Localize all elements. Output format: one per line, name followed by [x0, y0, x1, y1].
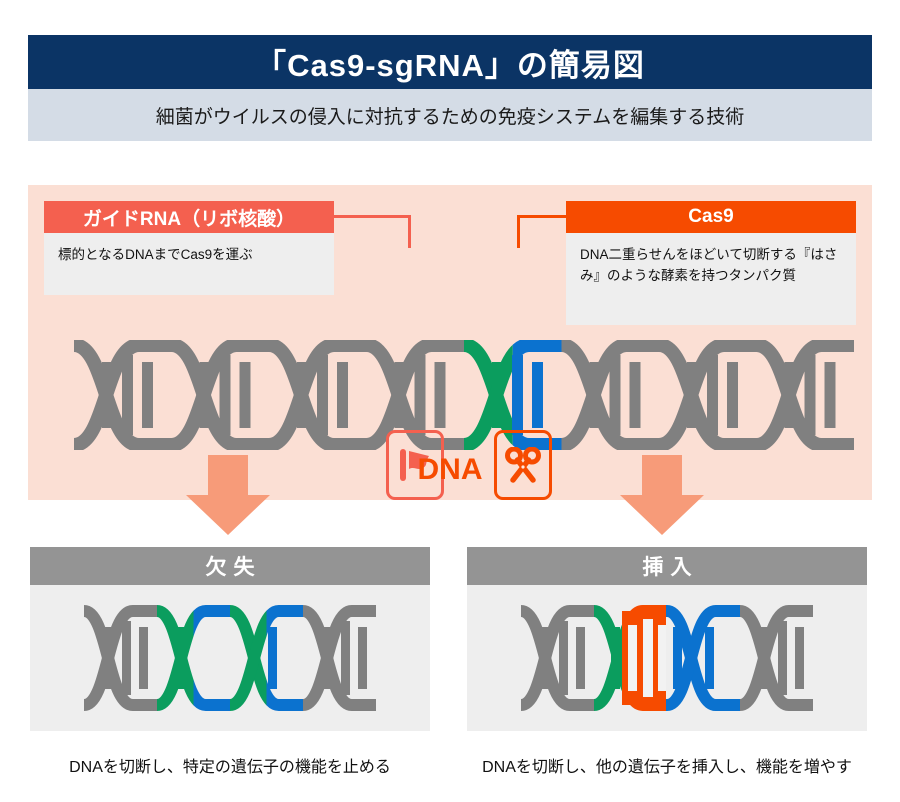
dna-double-helix-main	[74, 340, 854, 450]
connector-cas9-horizontal	[517, 215, 569, 218]
result-deletion-caption: DNAを切断し、特定の遺伝子の機能を止める	[30, 753, 430, 777]
result-panel-insertion: 挿入	[467, 547, 867, 777]
page-subtitle: 細菌がウイルスの侵入に対抗するための免疫システムを編集する技術	[156, 102, 744, 129]
arrow-down-deletion	[186, 455, 270, 535]
result-deletion-header: 欠失	[30, 547, 430, 585]
result-panel-deletion: 欠失	[30, 547, 430, 777]
callout-guide-rna-body: 標的となるDNAまでCas9を運ぶ	[44, 233, 334, 295]
callout-cas9-header: Cas9	[566, 201, 856, 233]
result-insertion-body	[467, 585, 867, 731]
callout-cas9-body: DNA二重らせんをほどいて切断する『はさみ』のような酵素を持つタンパク質	[566, 233, 856, 325]
connector-cas9-vertical	[517, 215, 520, 248]
dna-helix-insertion	[521, 603, 813, 713]
callout-cas9: Cas9 DNA二重らせんをほどいて切断する『はさみ』のような酵素を持つタンパク…	[566, 201, 856, 325]
result-insertion-header: 挿入	[467, 547, 867, 585]
result-deletion-body	[30, 585, 430, 731]
arrow-down-insertion	[620, 455, 704, 535]
dna-label: DNA	[28, 453, 872, 487]
page-title-bar: 「Cas9-sgRNA」の簡易図	[28, 35, 872, 89]
connector-guide-rna-horizontal	[334, 215, 411, 218]
main-diagram-panel: ガイドRNA（リボ核酸） 標的となるDNAまでCas9を運ぶ Cas9 DNA二…	[28, 185, 872, 500]
connector-guide-rna-vertical	[408, 215, 411, 248]
result-insertion-caption: DNAを切断し、他の遺伝子を挿入し、機能を増やす	[467, 753, 867, 777]
callout-guide-rna-header: ガイドRNA（リボ核酸）	[44, 201, 334, 233]
page-subtitle-bar: 細菌がウイルスの侵入に対抗するための免疫システムを編集する技術	[28, 89, 872, 141]
callout-guide-rna: ガイドRNA（リボ核酸） 標的となるDNAまでCas9を運ぶ	[44, 201, 334, 295]
page-title: 「Cas9-sgRNA」の簡易図	[255, 40, 645, 85]
dna-helix-deletion	[84, 603, 376, 713]
